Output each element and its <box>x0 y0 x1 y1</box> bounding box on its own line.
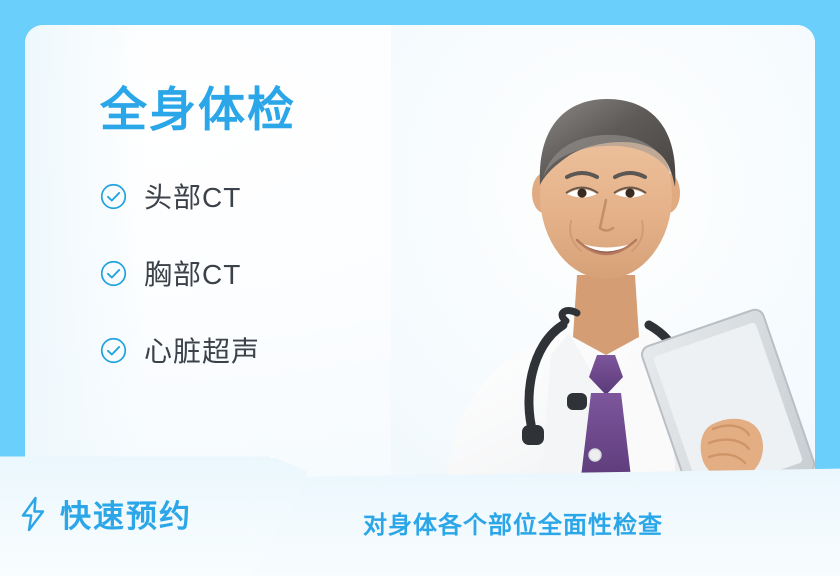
page-title: 全身体检 <box>100 85 430 134</box>
quick-booking-content: 快速预约 <box>18 491 192 536</box>
check-circle-icon <box>100 183 144 210</box>
quick-booking-label: 快速预约 <box>60 491 192 536</box>
doctor-photo <box>391 25 815 485</box>
check-circle-icon <box>100 337 144 364</box>
lightning-bolt-icon <box>18 496 60 532</box>
list-item-label: 心脏超声 <box>144 330 260 370</box>
list-item-label: 胸部CT <box>144 253 241 293</box>
list-item-label: 头部CT <box>144 176 241 216</box>
tagline-text: 对身体各个部位全面性检查 <box>363 505 663 540</box>
list-item: 胸部CT <box>100 253 430 293</box>
promo-banner: 全身体检 头部CT <box>0 0 840 576</box>
list-item: 心脏超声 <box>100 330 430 370</box>
check-circle-icon <box>100 260 144 287</box>
bottom-bar: 快速预约 对身体各个部位全面性检查 <box>0 454 840 576</box>
list-item: 头部CT <box>100 176 430 216</box>
text-block: 全身体检 头部CT <box>100 85 430 370</box>
feature-list: 头部CT 胸部CT <box>100 176 430 370</box>
